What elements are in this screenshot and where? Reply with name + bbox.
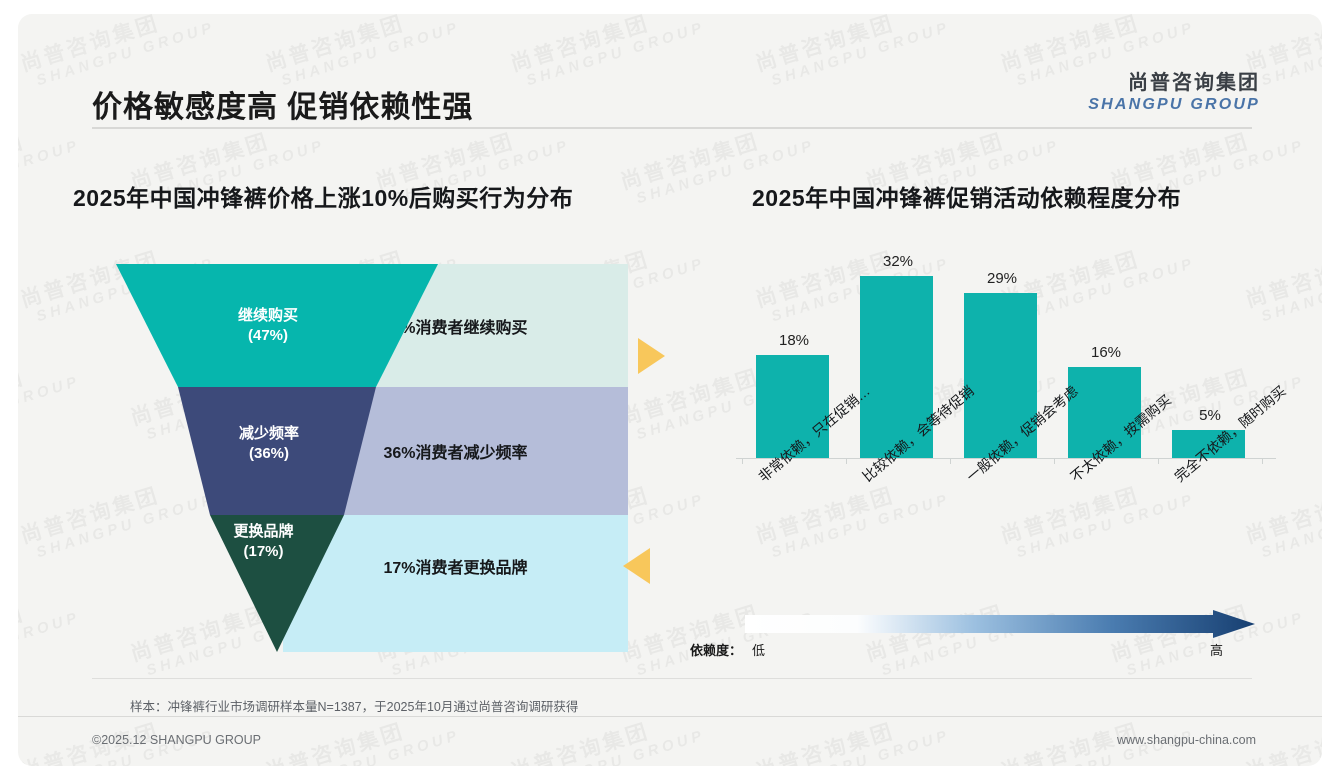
website-link[interactable]: www.shangpu-china.com (1117, 733, 1256, 747)
legend-title: 依赖度： (690, 640, 742, 659)
legend-low-label: 低 (752, 640, 765, 659)
axis-tick (950, 459, 951, 464)
dependency-gradient-legend: 依赖度： 低 高 (690, 610, 1270, 662)
axis-tick (846, 459, 847, 464)
bar-chart: 18%非常依赖，只在促销…32%比较依赖，会等待促销29%一般依赖，促销会考虑1… (736, 254, 1276, 459)
watermark-text: 尚普咨询集团SHANGPU GROUP (753, 469, 952, 565)
watermark-text: 尚普咨询集团SHANGPU GROUP (18, 351, 82, 447)
funnel-segment-reduce (178, 387, 376, 515)
slide-footer: ©2025.12 SHANGPU GROUP www.shangpu-china… (18, 716, 1322, 766)
funnel-chart: 47%消费者继续购买 36%消费者减少频率 17%消费者更换品牌 继续购买 (4… (98, 264, 628, 652)
axis-tick (1054, 459, 1055, 464)
bar-value-label: 29% (950, 270, 1054, 287)
bar-value-label: 18% (742, 332, 846, 349)
gradient-arrow-icon (745, 610, 1255, 638)
right-chart-title: 2025年中国冲锋裤促销活动依赖程度分布 (752, 179, 1181, 213)
brand-logo: 尚普咨询集团 SHANGPU GROUP (1088, 66, 1260, 114)
triangle-left-icon (623, 548, 650, 584)
watermark-text: 尚普咨询集团SHANGPU GROUP (18, 587, 82, 683)
funnel-segment-switch (210, 515, 344, 652)
axis-tick (1262, 459, 1263, 464)
brand-name-en: SHANGPU GROUP (1088, 96, 1260, 114)
source-note: 样本：冲锋裤行业市场调研样本量N=1387，于2025年10月通过尚普咨询调研获… (130, 696, 578, 715)
left-chart-title: 2025年中国冲锋裤价格上涨10%后购买行为分布 (73, 179, 573, 213)
copyright-text: ©2025.12 SHANGPU GROUP (92, 733, 261, 747)
header-divider (92, 127, 1252, 129)
slide-header: 价格敏感度高 促销依赖性强 尚普咨询集团 SHANGPU GROUP (18, 14, 1322, 132)
axis-tick (742, 459, 743, 464)
slide-canvas: 尚普咨询集团SHANGPU GROUP尚普咨询集团SHANGPU GROUP尚普… (18, 14, 1322, 766)
funnel-segment-continue (116, 264, 438, 387)
triangle-right-icon (638, 338, 665, 374)
legend-high-label: 高 (1210, 640, 1223, 659)
bar-value-label: 16% (1054, 344, 1158, 361)
watermark-text: 尚普咨询集团SHANGPU GROUP (998, 469, 1197, 565)
bar-value-label: 32% (846, 253, 950, 270)
funnel-shape (98, 264, 448, 652)
axis-tick (1158, 459, 1159, 464)
brand-name-cn: 尚普咨询集团 (1088, 66, 1260, 95)
footnote-divider (92, 678, 1252, 679)
page-title: 价格敏感度高 促销依赖性强 (92, 82, 473, 126)
watermark-text: 尚普咨询集团SHANGPU GROUP (1243, 469, 1322, 565)
